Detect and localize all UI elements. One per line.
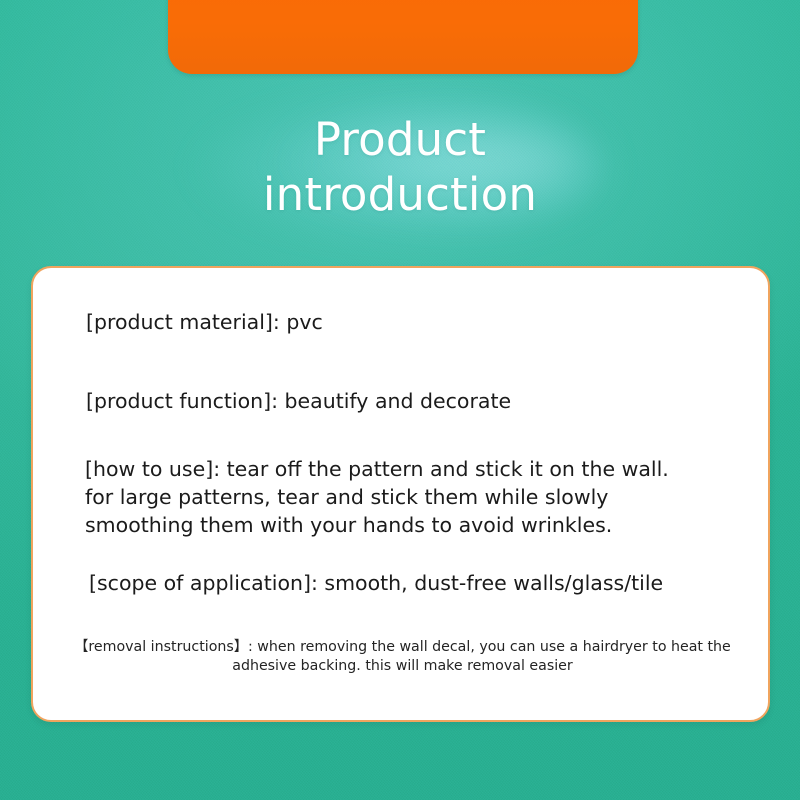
removal-instructions-note: 【removal instructions】: when removing th… [43,638,762,676]
page-title-line-1: Product [0,112,800,167]
spec-how-to-use: [how to use]: tear off the pattern and s… [85,455,725,539]
product-details-card-body: [product material]: pvc [product functio… [33,268,768,720]
spec-product-material: [product material]: pvc [86,308,323,336]
orange-header-tab [168,0,638,74]
page-title: Product introduction [0,112,800,222]
page-title-line-2: introduction [0,167,800,222]
product-details-card: [product material]: pvc [product functio… [31,266,770,722]
spec-scope-of-application: [scope of application]: smooth, dust-fre… [89,569,663,597]
spec-product-function: [product function]: beautify and decorat… [86,387,511,415]
product-introduction-poster: Product introduction [product material]:… [0,0,800,800]
